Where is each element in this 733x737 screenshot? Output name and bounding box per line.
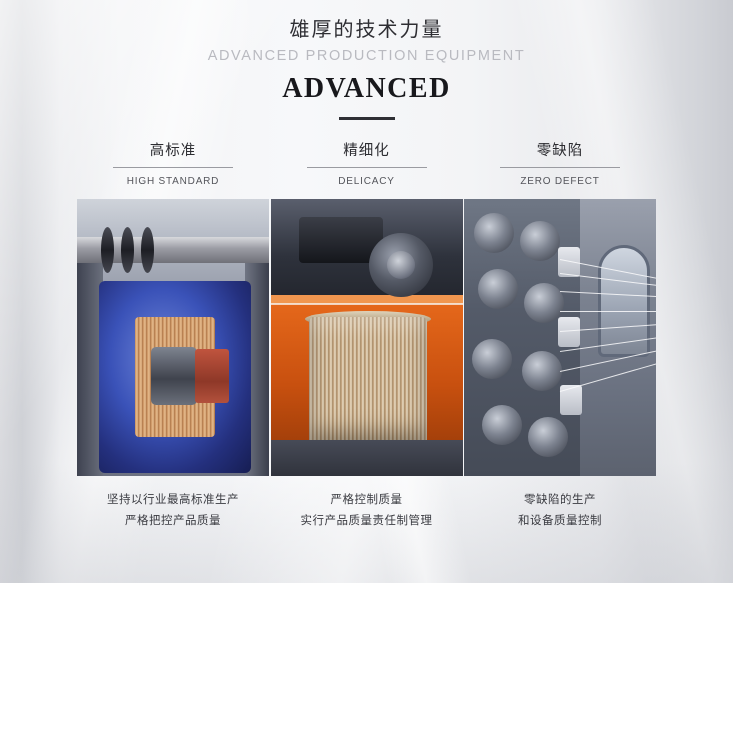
column-title-cn: 精细化 xyxy=(307,143,427,168)
column-title-en: HIGH STANDARD xyxy=(127,176,219,188)
page-title-en: ADVANCED xyxy=(0,72,733,106)
column-caption-line1: 坚持以行业最高标准生产 xyxy=(107,490,239,510)
title-divider xyxy=(339,117,395,120)
column-photo-high-standard xyxy=(77,199,269,476)
column-caption-line2: 严格把控产品质量 xyxy=(107,511,239,531)
column-title-en: ZERO DEFECT xyxy=(520,176,599,188)
column-caption-line2: 实行产品质量责任制管理 xyxy=(301,511,433,531)
column-caption-line1: 严格控制质量 xyxy=(301,490,433,510)
banner-header: 雄厚的技术力量 ADVANCED PRODUCTION EQUIPMENT AD… xyxy=(0,0,733,120)
column-caption-line2: 和设备质量控制 xyxy=(518,511,602,531)
promo-banner: 雄厚的技术力量 ADVANCED PRODUCTION EQUIPMENT AD… xyxy=(0,0,733,583)
column-photo-delicacy xyxy=(271,199,463,476)
feature-column-high-standard: 高标准 HIGH STANDARD 坚持以行业最高标准生产 严格把控产品质量 xyxy=(77,143,269,531)
column-caption-line1: 零缺陷的生产 xyxy=(518,490,602,510)
column-caption: 坚持以行业最高标准生产 严格把控产品质量 xyxy=(107,490,239,530)
page-subtitle-en: ADVANCED PRODUCTION EQUIPMENT xyxy=(0,48,733,65)
feature-column-delicacy: 精细化 DELICACY 严格控制质量 实行产品质量责任制管理 xyxy=(271,143,463,531)
page-title-cn: 雄厚的技术力量 xyxy=(0,17,733,43)
column-caption: 严格控制质量 实行产品质量责任制管理 xyxy=(301,490,433,530)
feature-columns: 高标准 HIGH STANDARD 坚持以行业最高标准生产 严格把控产品质量 xyxy=(0,143,733,531)
column-title-cn: 高标准 xyxy=(113,143,233,168)
column-title-en: DELICACY xyxy=(338,176,394,188)
column-photo-zero-defect xyxy=(464,199,656,476)
column-title-cn: 零缺陷 xyxy=(500,143,620,168)
column-caption: 零缺陷的生产 和设备质量控制 xyxy=(518,490,602,530)
feature-column-zero-defect: 零缺陷 ZERO DEFECT xyxy=(464,143,656,531)
